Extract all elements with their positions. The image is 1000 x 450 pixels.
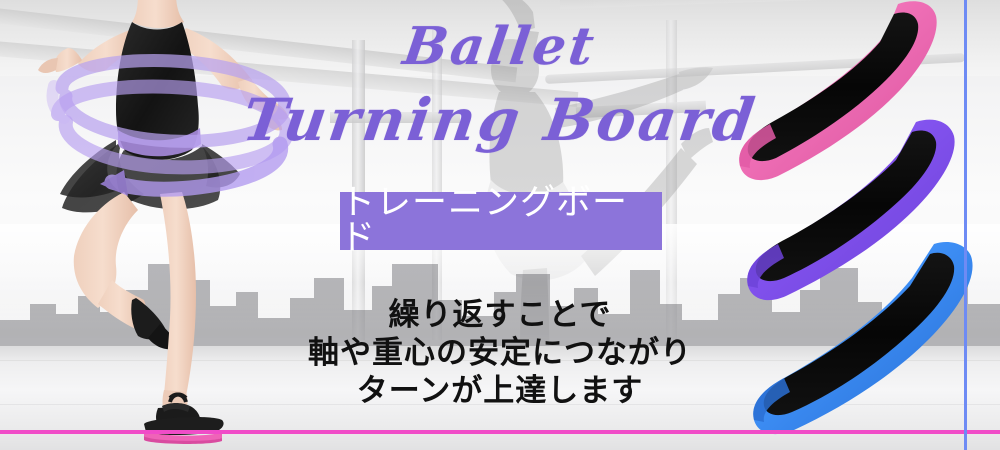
product-category-badge-label: トレーニングボード bbox=[340, 186, 662, 256]
product-category-badge: トレーニングボード bbox=[340, 192, 662, 250]
benefit-caption-line-1: 繰り返すことで bbox=[230, 296, 770, 334]
ballet-turning-board-banner: Ballet Turning Board トレーニングボード 繰り返すことで 軸… bbox=[0, 0, 1000, 450]
blue-accent-rule bbox=[964, 0, 967, 450]
benefit-caption-line-3: ターンが上達します bbox=[230, 372, 770, 410]
benefit-caption: 繰り返すことで 軸や重心の安定につながり ターンが上達します bbox=[230, 296, 770, 410]
benefit-caption-line-2: 軸や重心の安定につながり bbox=[230, 334, 770, 372]
pink-accent-rule bbox=[0, 430, 1000, 434]
title-line-1: Ballet bbox=[166, 16, 835, 77]
title-line-2: Turning Board bbox=[165, 86, 835, 154]
